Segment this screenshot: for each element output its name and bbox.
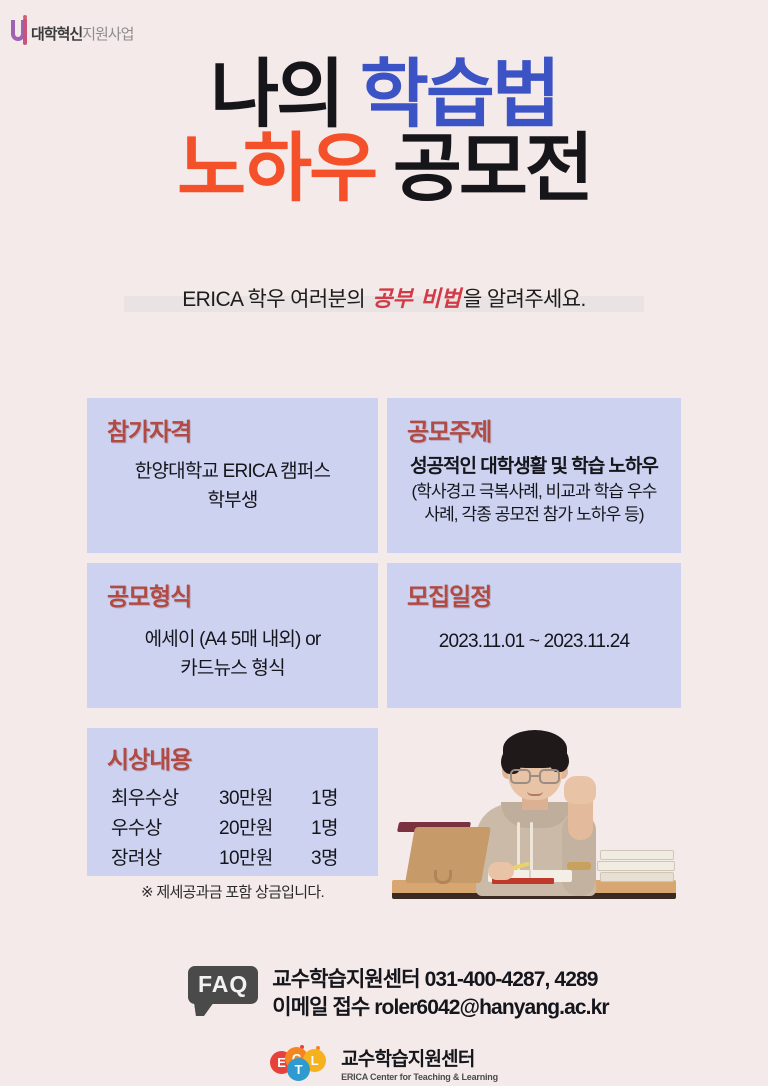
glasses-bridge — [531, 775, 539, 777]
info-box-format: 공모형식 에세이 (A4 5매 내외) or 카드뉴스 형식 — [87, 563, 378, 708]
poster-headline: 나의 학습법 노하우 공모전 — [0, 58, 768, 205]
info-box-awards: 시상내용 최우수상30만원1명우수상20만원1명장려상10만원3명 — [87, 728, 378, 876]
box-body-format: 에세이 (A4 5매 내외) or 카드뉴스 형식 — [87, 626, 378, 683]
format-line-2: 카드뉴스 형식 — [87, 655, 378, 684]
award-amount: 30만원 — [219, 783, 311, 813]
program-logo: 대학혁신지원사업 — [10, 18, 133, 48]
ectl-logo-text: 교수학습지원센터 ERICA Center for Teaching & Lea… — [341, 1044, 498, 1082]
schedule-period: 2023.11.01 ~ 2023.11.24 — [387, 631, 681, 653]
awards-table: 최우수상30만원1명우수상20만원1명장려상10만원3명 — [111, 783, 361, 873]
glasses-lens-left — [510, 769, 531, 784]
subtitle-after: 을 알려주세요. — [463, 288, 586, 311]
subtitle-before: ERICA 학우 여러분의 — [182, 288, 365, 311]
faq-badge-icon: FAQ — [188, 966, 258, 1004]
box-title-schedule: 모집일정 — [407, 577, 491, 612]
box-title-awards: 시상내용 — [107, 740, 191, 775]
headline-hakseupbeop: 학습법 — [360, 52, 558, 136]
headline-line-2: 노하우 공모전 — [0, 132, 768, 206]
subtitle-highlight: 공부 비법 — [370, 286, 463, 312]
box-title-format: 공모형식 — [107, 577, 191, 612]
hoodie-string-right — [530, 822, 533, 874]
award-count: 1명 — [311, 783, 361, 813]
box-title-qualification: 참가자격 — [107, 412, 191, 447]
headline-line-1: 나의 학습법 — [0, 58, 768, 132]
ectl-letter-t: T — [287, 1058, 310, 1081]
subtitle-row: ERICA 학우 여러분의 공부 비법을 알려주세요. — [0, 278, 768, 319]
headline-nohau: 노하우 — [177, 126, 375, 210]
qualification-line-2: 학부생 — [87, 487, 378, 516]
program-logo-text: 대학혁신지원사업 — [31, 23, 133, 44]
faq-email-line: 이메일 접수 roler6042@hanyang.ac.kr — [272, 994, 608, 1022]
awards-note: ※ 제세공과금 포함 상금입니다. — [87, 881, 378, 902]
award-name: 우수상 — [111, 813, 219, 843]
qualification-line-1: 한양대학교 ERICA 캠퍼스 — [87, 458, 378, 487]
ectl-english-name: ERICA Center for Teaching & Learning — [341, 1072, 498, 1082]
ectl-korean-name: 교수학습지원센터 — [341, 1044, 498, 1071]
u-mark-icon — [10, 18, 27, 48]
award-amount: 20만원 — [219, 813, 311, 843]
info-box-schedule: 모집일정 2023.11.01 ~ 2023.11.24 — [387, 563, 681, 708]
info-box-topic: 공모주제 성공적인 대학생활 및 학습 노하우 (학사경고 극복사례, 비교과 … — [387, 398, 681, 553]
headline-gongmojeon: 공모전 — [393, 126, 591, 210]
format-line-1: 에세이 (A4 5매 내외) or — [87, 626, 378, 655]
box-title-topic: 공모주제 — [407, 412, 491, 447]
award-amount: 10만원 — [219, 843, 311, 873]
info-box-qualification: 참가자격 한양대학교 ERICA 캠퍼스 학부생 — [87, 398, 378, 553]
student-fist — [564, 776, 596, 804]
topic-sub-line-1: (학사경고 극복사례, 비교과 학습 우수 — [387, 481, 681, 504]
award-count: 1명 — [311, 813, 361, 843]
awards-row: 장려상10만원3명 — [111, 843, 361, 873]
subtitle-text: ERICA 학우 여러분의 공부 비법을 알려주세요. — [182, 281, 585, 313]
awards-row: 최우수상30만원1명 — [111, 783, 361, 813]
program-logo-bold: 대학혁신 — [31, 26, 82, 43]
glasses-lens-right — [539, 769, 560, 784]
faq-contact-row: FAQ 교수학습지원센터 031-400-4287, 4289 이메일 접수 r… — [188, 966, 609, 1023]
student-mouth — [527, 791, 543, 796]
award-name: 최우수상 — [111, 783, 219, 813]
student-hand-left — [488, 862, 514, 880]
ectl-mark-icon: E C L T — [270, 1045, 332, 1081]
award-name: 장려상 — [111, 843, 219, 873]
award-count: 3명 — [311, 843, 361, 873]
subtitle-highlight-band: ERICA 학우 여러분의 공부 비법을 알려주세요. — [166, 278, 601, 319]
headline-naui: 나의 — [210, 52, 342, 136]
book-stand-leg — [434, 870, 452, 884]
ectl-logo: E C L T 교수학습지원센터 ERICA Center for Teachi… — [0, 1044, 768, 1082]
box-body-qualification: 한양대학교 ERICA 캠퍼스 학부생 — [87, 458, 378, 515]
faq-phone-line: 교수학습지원센터 031-400-4287, 4289 — [272, 966, 608, 994]
faq-contact-lines: 교수학습지원센터 031-400-4287, 4289 이메일 접수 roler… — [272, 966, 608, 1023]
topic-sub-line-2: 사례, 각종 공모전 참가 노하우 등) — [387, 504, 681, 527]
box-body-schedule: 2023.11.01 ~ 2023.11.24 — [387, 631, 681, 653]
book-stack — [600, 850, 674, 882]
wristwatch — [567, 862, 591, 870]
topic-main: 성공적인 대학생활 및 학습 노하우 — [387, 454, 681, 481]
box-body-topic: 성공적인 대학생활 및 학습 노하우 (학사경고 극복사례, 비교과 학습 우수… — [387, 454, 681, 526]
student-photo — [384, 722, 684, 907]
awards-row: 우수상20만원1명 — [111, 813, 361, 843]
program-logo-light: 지원사업 — [82, 26, 133, 43]
